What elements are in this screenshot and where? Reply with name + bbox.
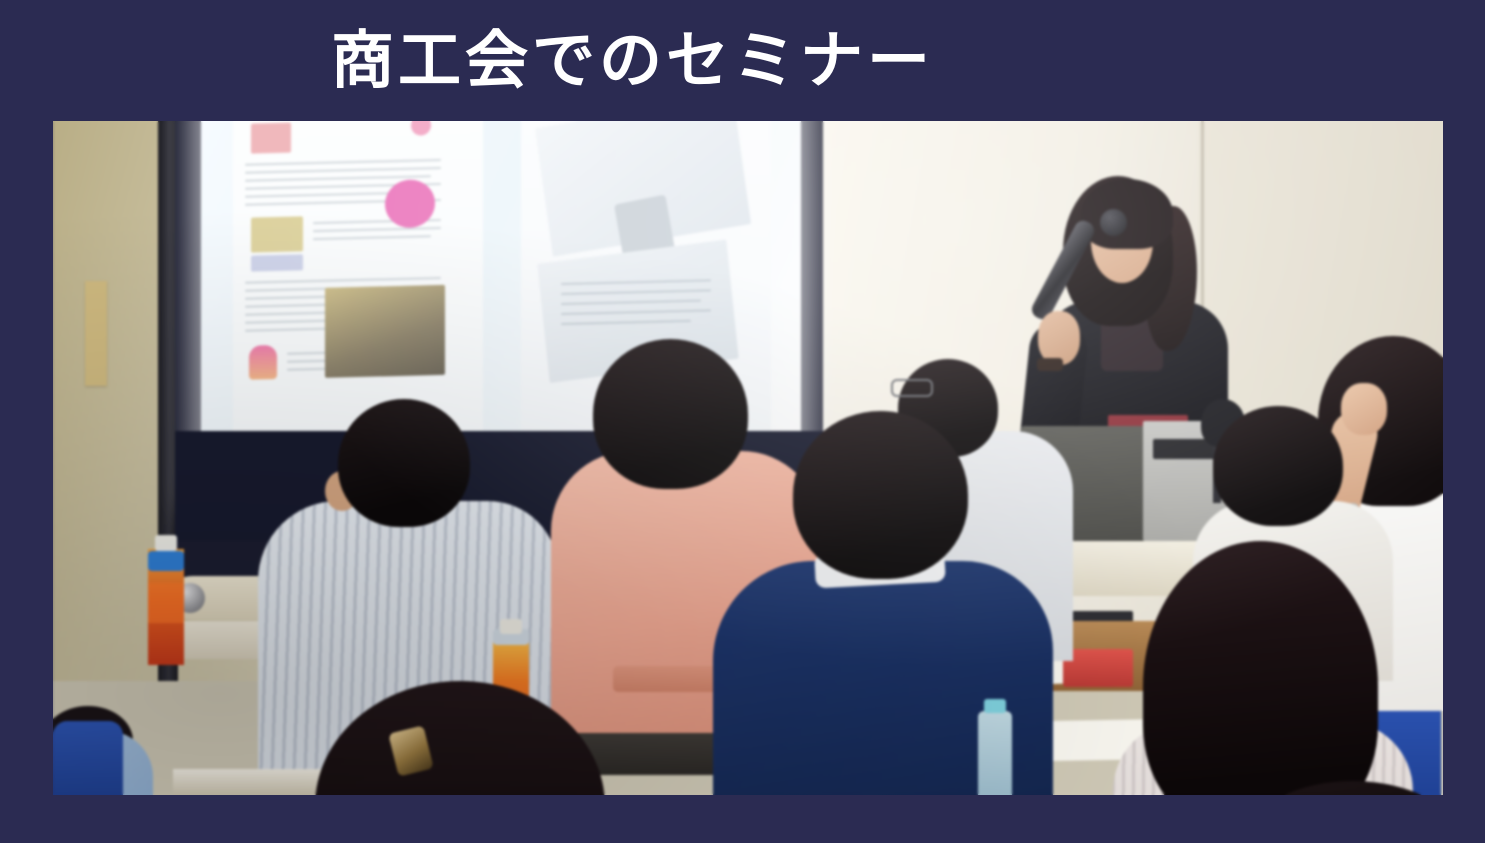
chair-blue-6 — [53, 721, 123, 795]
audience-navy-suit-head — [793, 411, 968, 579]
eyeglasses — [891, 379, 933, 397]
juice-bottle-2-cap — [500, 619, 522, 634]
presenter-hand — [1038, 311, 1080, 365]
page-title: 商工会でのセミナー — [331, 29, 934, 92]
water-bottle-2-cap — [984, 699, 1006, 713]
wall-notice-card — [85, 281, 107, 386]
red-box — [1063, 649, 1133, 687]
tea-bottle-1-cap — [155, 535, 177, 551]
audience-white-blouse-hand — [1341, 383, 1387, 435]
water-bottle-2 — [978, 711, 1012, 795]
title-bar: 商工会でのセミナー — [0, 0, 1485, 121]
tea-bottle-1-neck — [148, 551, 184, 571]
audience-spiky-hair-head — [1213, 406, 1343, 526]
projected-magazine-left-page — [233, 121, 483, 456]
tea-bottle-1-label — [148, 583, 184, 623]
slide-canvas: 商工会でのセミナー — [0, 0, 1485, 843]
microphone-head — [1100, 209, 1127, 236]
seminar-photo — [53, 121, 1443, 795]
audience-peach-top-head — [593, 339, 748, 489]
audience-striped-shirt-head — [338, 399, 470, 527]
presenter-wristwatch — [1037, 358, 1063, 371]
presenter-bangs — [1081, 179, 1173, 249]
